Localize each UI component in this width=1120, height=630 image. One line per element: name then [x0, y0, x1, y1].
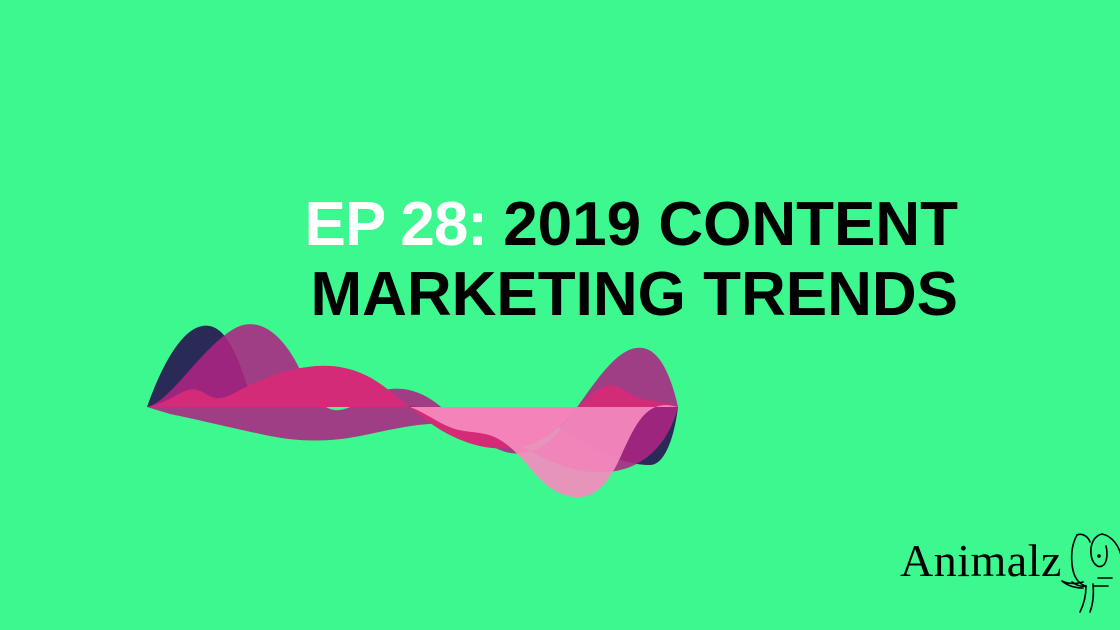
brand-logo: Animalz: [900, 520, 1120, 620]
page-title: EP 28: 2019 CONTENT MARKETING TRENDS: [200, 190, 958, 330]
elephant-icon: [1050, 520, 1120, 620]
elephant-line-art-svg: [1050, 520, 1120, 620]
brand-wordmark: Animalz: [900, 538, 1062, 584]
episode-number-label: EP 28:: [305, 190, 504, 259]
episode-cover-slide: EP 28: 2019 CONTENT MARKETING TRENDS Ani…: [0, 0, 1120, 630]
